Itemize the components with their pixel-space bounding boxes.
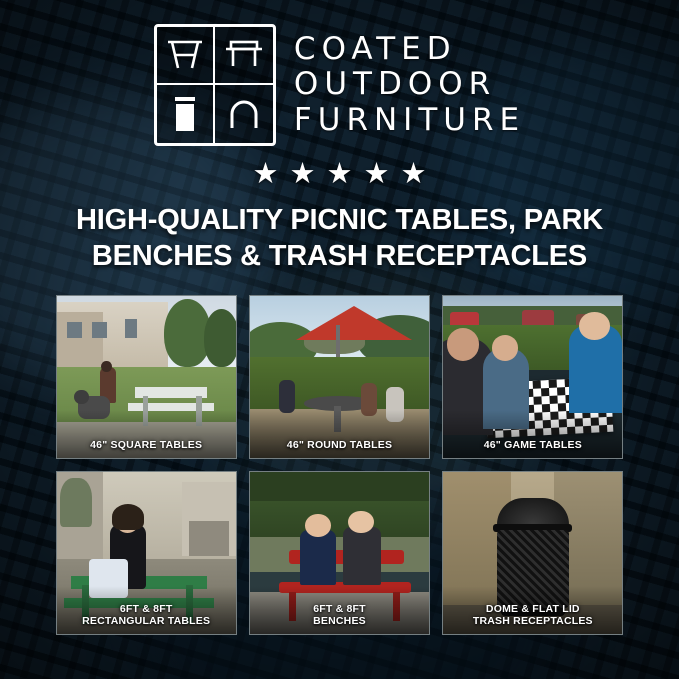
tile-caption: 46" SQUARE TABLES — [57, 440, 236, 452]
product-banner: COATED OUTDOOR FURNITURE ★ ★ ★ ★ ★ HIGH-… — [0, 0, 679, 679]
gallery-tile-game-tables[interactable]: 46" GAME TABLES — [442, 295, 623, 459]
caption-line-1: 46" GAME TABLES — [484, 439, 582, 451]
tile-caption: 46" GAME TABLES — [443, 440, 622, 452]
caption-line-2: BENCHES — [252, 616, 427, 628]
picnic-table-icon — [157, 27, 215, 85]
tile-caption: 6FT & 8FT RECTANGULAR TABLES — [57, 604, 236, 628]
star-icon: ★ — [290, 160, 316, 189]
gallery-tile-square-tables[interactable]: 46" SQUARE TABLES — [56, 295, 237, 459]
caption-line-1: 46" ROUND TABLES — [287, 439, 392, 451]
trash-receptacle-icon — [157, 85, 215, 143]
park-bench-icon — [215, 27, 273, 85]
brand-logo: COATED OUTDOOR FURNITURE — [154, 24, 525, 146]
tile-caption: 46" ROUND TABLES — [250, 440, 429, 452]
tile-caption: DOME & FLAT LID TRASH RECEPTACLES — [443, 604, 622, 628]
logo-mark — [154, 24, 276, 146]
star-icon: ★ — [401, 160, 427, 189]
caption-line-2: RECTANGULAR TABLES — [59, 616, 234, 628]
brand-line-1: COATED — [294, 33, 525, 66]
brand-line-2: OUTDOOR — [294, 68, 525, 101]
headline: HIGH-QUALITY PICNIC TABLES, PARK BENCHES… — [40, 203, 640, 275]
headline-line-2: BENCHES & TRASH RECEPTACLES — [40, 239, 640, 275]
gallery-tile-trash-receptacles[interactable]: DOME & FLAT LID TRASH RECEPTACLES — [442, 471, 623, 635]
brand-line-3: FURNITURE — [294, 104, 525, 137]
headline-line-1: HIGH-QUALITY PICNIC TABLES, PARK — [40, 203, 640, 239]
star-rating: ★ ★ ★ ★ ★ — [253, 160, 427, 189]
arch-trash-can-icon — [215, 85, 273, 143]
gallery-tile-benches[interactable]: 6FT & 8FT BENCHES — [249, 471, 430, 635]
product-gallery: 46" SQUARE TABLES — [56, 295, 624, 635]
brand-wordmark: COATED OUTDOOR FURNITURE — [294, 33, 525, 137]
caption-line-2: TRASH RECEPTACLES — [445, 616, 620, 628]
tile-caption: 6FT & 8FT BENCHES — [250, 604, 429, 628]
gallery-tile-rectangular-tables[interactable]: 6FT & 8FT RECTANGULAR TABLES — [56, 471, 237, 635]
star-icon: ★ — [327, 160, 353, 189]
gallery-tile-round-tables[interactable]: 46" ROUND TABLES — [249, 295, 430, 459]
star-icon: ★ — [253, 160, 279, 189]
star-icon: ★ — [364, 160, 390, 189]
caption-line-1: 46" SQUARE TABLES — [90, 439, 202, 451]
